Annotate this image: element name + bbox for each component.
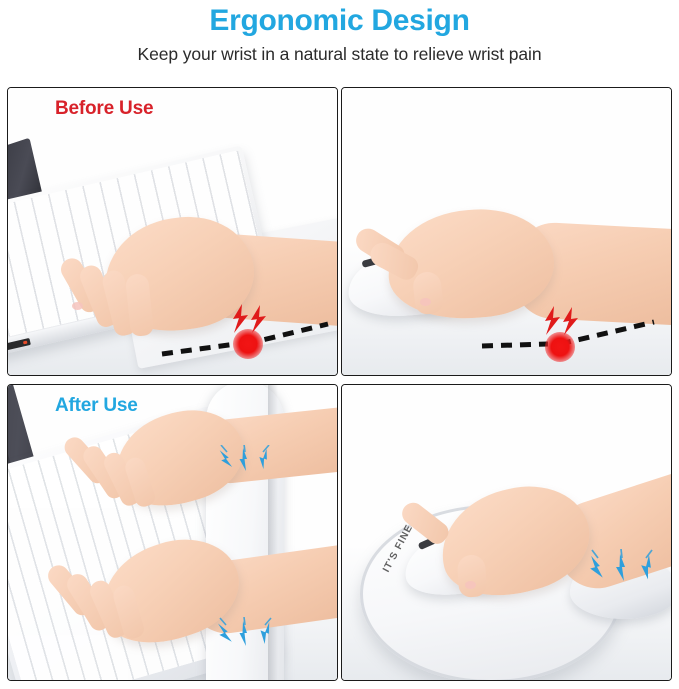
- panel-before-keyboard: Before Use: [7, 87, 338, 376]
- lightning-bolt-icon: [542, 306, 586, 336]
- lightning-bolt-icon: [230, 304, 274, 334]
- relief-arrows-pad: [584, 549, 664, 595]
- panel-before-mouse: [341, 87, 672, 376]
- scene-keyboard-with-wrist-rest: [8, 385, 337, 680]
- page-title: Ergonomic Design: [0, 2, 679, 40]
- pain-dot-icon: [545, 332, 575, 362]
- panel-grid: Before Use: [7, 87, 672, 681]
- scene-mouse-with-pad: IT'S FINE: [342, 385, 671, 680]
- header: Ergonomic Design Keep your wrist in a na…: [0, 0, 679, 67]
- fingernail: [420, 298, 431, 306]
- fingernail: [72, 302, 83, 310]
- page-subtitle: Keep your wrist in a natural state to re…: [0, 41, 679, 67]
- panel-after-mouse: IT'S FINE: [341, 384, 672, 681]
- fingernail: [465, 581, 476, 589]
- relief-arrows-upper: [217, 445, 275, 485]
- scene-keyboard-no-support: [8, 88, 337, 375]
- panel-label-before: Before Use: [55, 98, 153, 120]
- scene-mouse-no-support: [342, 88, 671, 375]
- panel-label-after: After Use: [55, 395, 138, 417]
- infographic-page: Ergonomic Design Keep your wrist in a na…: [0, 0, 679, 689]
- thumb: [457, 554, 488, 598]
- relief-arrows-lower: [215, 617, 277, 659]
- panel-after-keyboard: After Use: [7, 384, 338, 681]
